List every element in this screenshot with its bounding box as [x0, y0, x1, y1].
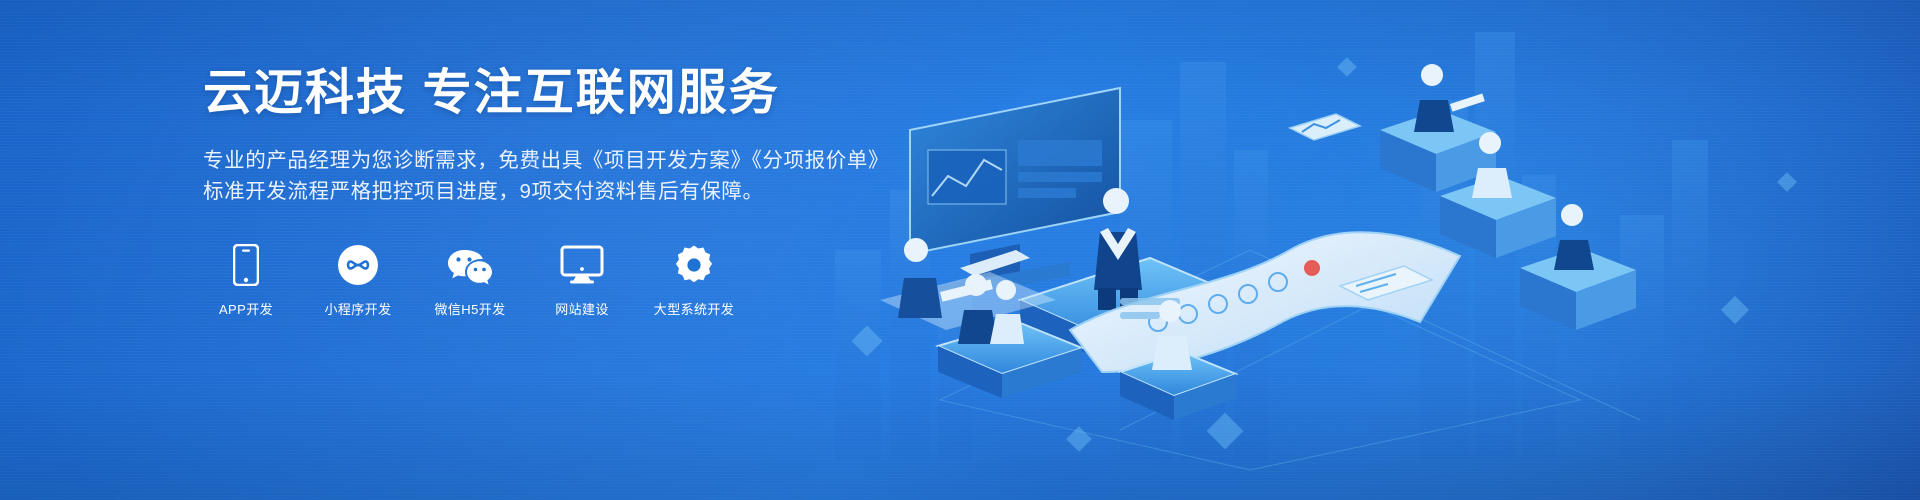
service-label: 微信H5开发	[434, 299, 505, 318]
hero-banner: 云迈科技 专注互联网服务 专业的产品经理为您诊断需求，免费出具《项目开发方案》《…	[0, 0, 1920, 500]
mobile-phone-icon	[233, 243, 259, 287]
subtitle-line-2: 标准开发流程严格把控项目进度，9项交付资料售后有保障。	[203, 176, 1103, 207]
service-label: 大型系统开发	[654, 299, 734, 318]
service-item-system[interactable]: 大型系统开发	[651, 243, 737, 318]
service-item-wechat[interactable]: 微信H5开发	[427, 243, 513, 318]
page-title: 云迈科技 专注互联网服务	[203, 64, 1103, 123]
gear-icon	[673, 243, 715, 287]
banner-content: 云迈科技 专注互联网服务 专业的产品经理为您诊断需求，免费出具《项目开发方案》《…	[203, 64, 1103, 318]
service-item-miniprogram[interactable]: 小程序开发	[315, 243, 401, 318]
service-label: APP开发	[219, 299, 273, 318]
service-item-app[interactable]: APP开发	[203, 243, 289, 318]
service-item-website[interactable]: 网站建设	[539, 243, 625, 318]
service-label: 网站建设	[555, 299, 609, 318]
mini-program-icon	[337, 243, 379, 287]
service-label: 小程序开发	[324, 299, 391, 318]
subtitle-block: 专业的产品经理为您诊断需求，免费出具《项目开发方案》《分项报价单》 标准开发流程…	[203, 145, 1103, 207]
monitor-icon	[560, 243, 604, 287]
wechat-icon	[446, 243, 494, 287]
service-list: APP开发 小程序开发	[203, 243, 1103, 318]
subtitle-line-1: 专业的产品经理为您诊断需求，免费出具《项目开发方案》《分项报价单》	[203, 145, 1103, 176]
